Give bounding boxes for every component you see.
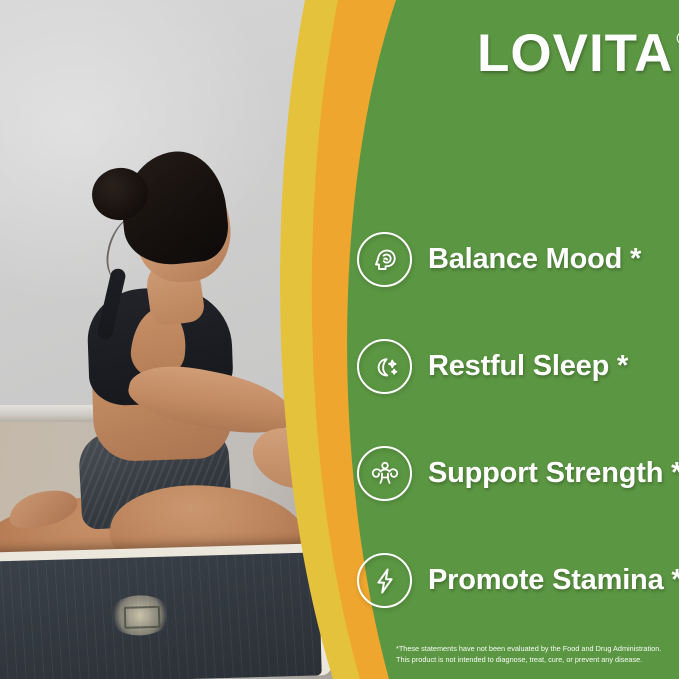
flexing-muscle-icon	[357, 446, 412, 501]
benefit-label: Balance Mood *	[428, 243, 641, 276]
benefit-row-support-strength: Support Strength *	[357, 420, 679, 527]
benefit-row-balance-mood: Balance Mood *	[357, 206, 679, 313]
brand-name: LOVITA	[477, 27, 673, 80]
lightning-bolt-icon	[357, 553, 412, 608]
disclaimer-line-2: This product is not intended to diagnose…	[396, 654, 674, 665]
brain-head-icon	[357, 232, 412, 287]
moon-stars-icon	[357, 339, 412, 394]
fda-disclaimer: *These statements have not been evaluate…	[396, 643, 674, 666]
benefit-label: Promote Stamina *	[428, 564, 679, 597]
benefit-label: Support Strength *	[428, 457, 679, 490]
product-marketing-image: LOVITA ® Balance Mood *	[0, 0, 679, 679]
benefit-row-restful-sleep: Restful Sleep *	[357, 313, 679, 420]
panel-content: LOVITA ® Balance Mood *	[0, 0, 679, 679]
benefit-label: Restful Sleep *	[428, 350, 628, 383]
benefit-row-promote-stamina: Promote Stamina *	[357, 527, 679, 634]
brand-logo: LOVITA ®	[477, 27, 679, 80]
benefits-list: Balance Mood * Restful Sleep *	[357, 206, 679, 634]
disclaimer-line-1: *These statements have not been evaluate…	[396, 643, 674, 654]
